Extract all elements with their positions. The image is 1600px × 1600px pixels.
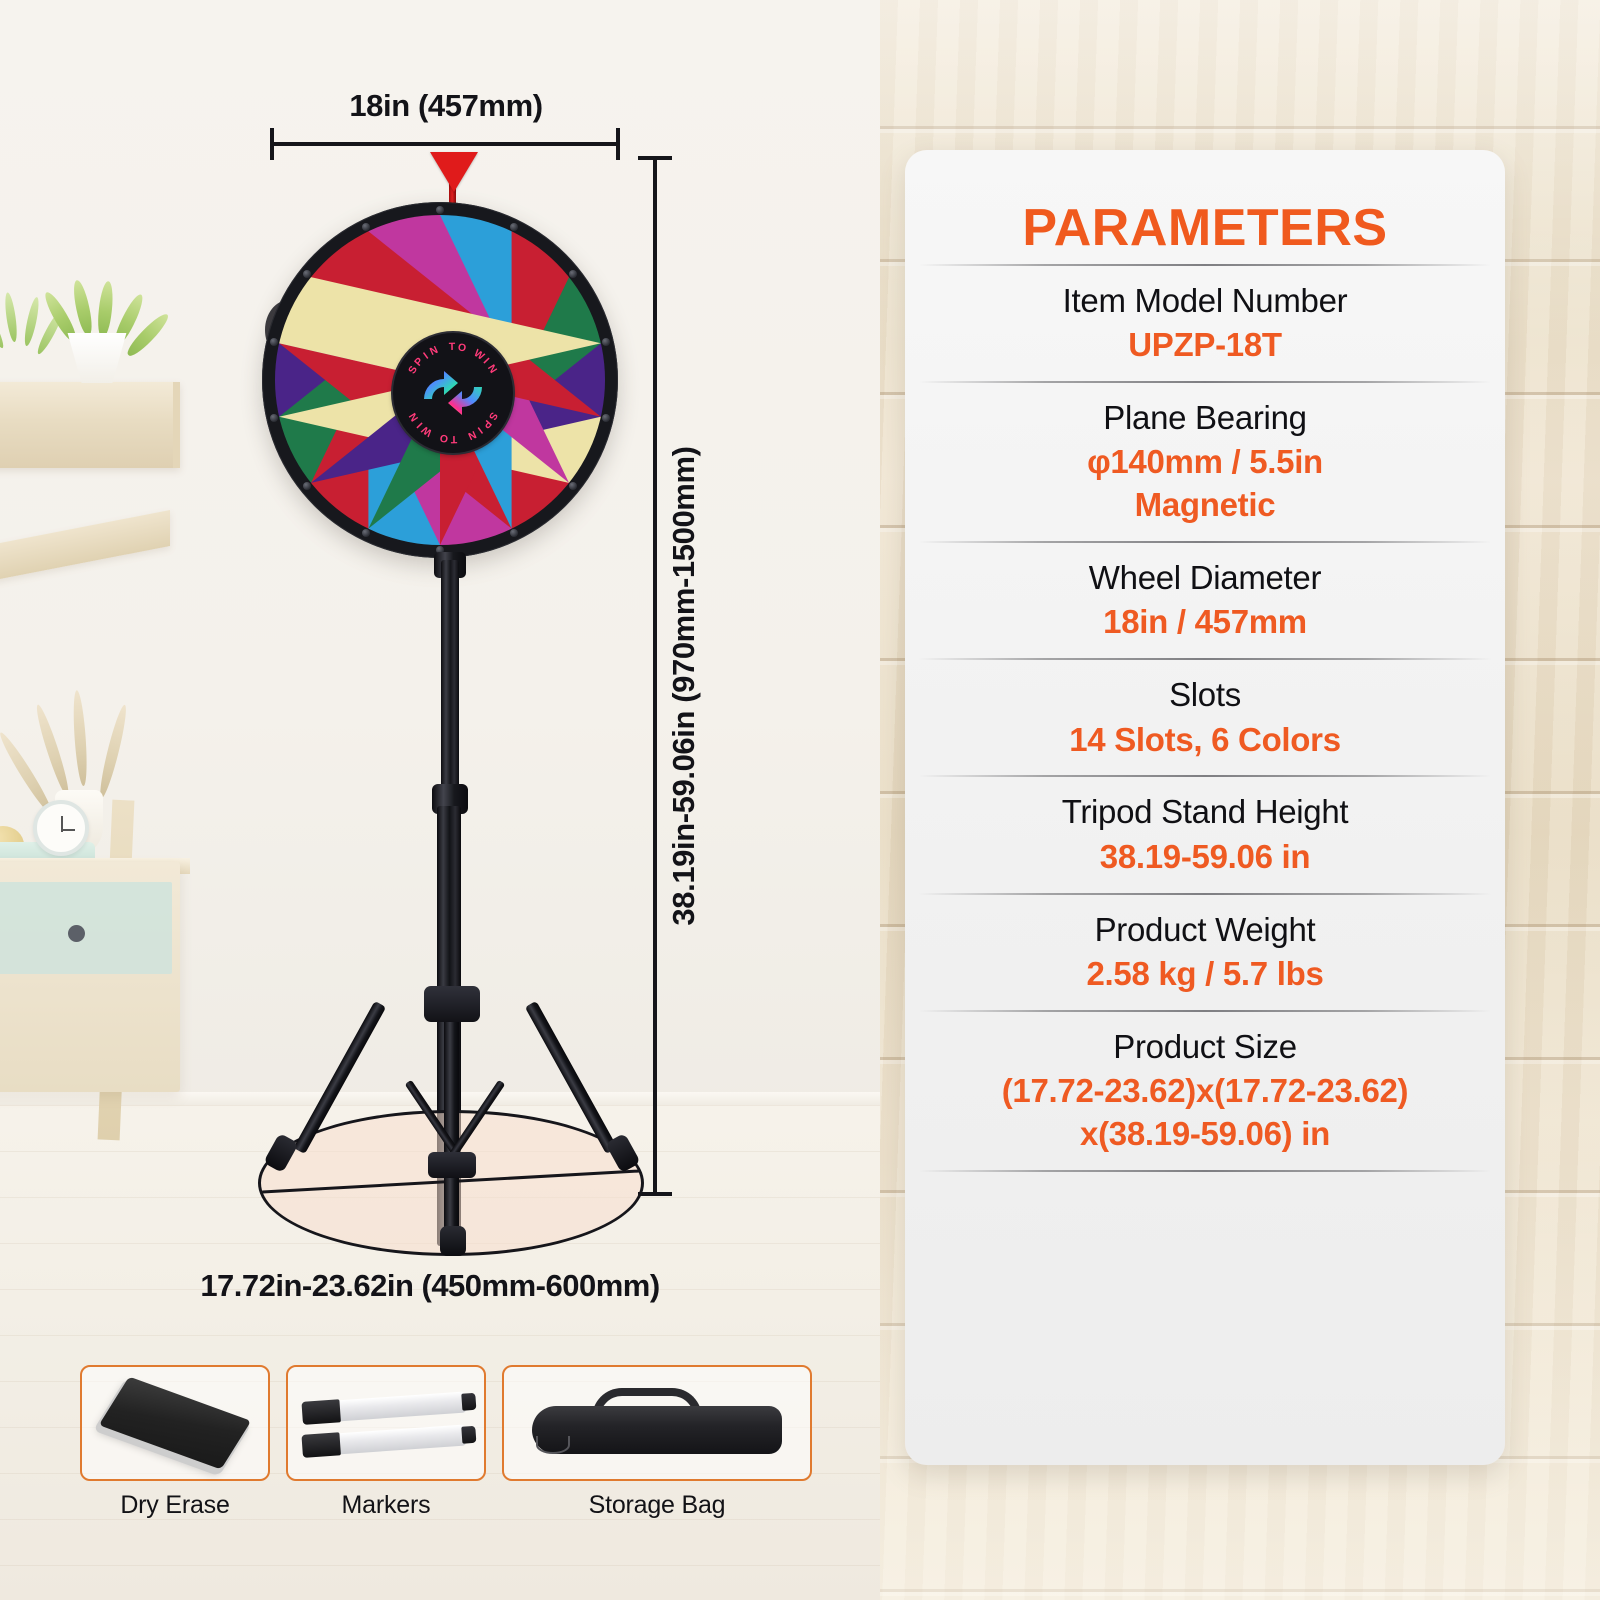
tripod-leg-center [444,1004,459,1254]
spec-row: Tripod Stand Height38.19-59.06 in [905,777,1505,892]
spec-row: Product Size(17.72-23.62)x(17.72-23.62)x… [905,1012,1505,1170]
dimension-line-width [272,142,620,146]
wheel-rim-screw [436,206,444,214]
spec-label: Slots [1169,674,1241,715]
accessory-card[interactable] [80,1365,270,1481]
wheel-face: SPIN TO WINSPIN TO WIN [275,215,605,545]
spec-label: Product Size [1113,1026,1297,1067]
nightstand-drawer [0,882,172,974]
spec-row: Slots14 Slots, 6 Colors [905,660,1505,775]
spec-row: Plane Bearingφ140mm / 5.5inMagnetic [905,383,1505,541]
marker-pens-icon [306,1396,466,1450]
spec-label: Wheel Diameter [1089,557,1321,598]
tripod-brace-hub [428,1152,476,1178]
accessory-dry-erase[interactable]: Dry Erase [80,1365,270,1520]
spec-label: Plane Bearing [1103,397,1306,438]
spec-value-line2: x(38.19-59.06) in [1002,1113,1409,1156]
panel-title: PARAMETERS [905,150,1505,264]
accessory-card[interactable] [502,1365,812,1481]
spec-value: 14 Slots, 6 Colors [1069,719,1341,762]
dimension-label-height: 38.19in-59.06in (970mm-1500mm) [666,406,702,966]
spec-value: (17.72-23.62)x(17.72-23.62)x(38.19-59.06… [1002,1070,1409,1156]
wall-shelf-upper [0,382,180,468]
wheel-rim-screw [569,270,577,278]
spec-value: UPZP-18T [1128,324,1281,367]
dimension-label-base: 17.72in-23.62in (450mm-600mm) [100,1268,760,1304]
accessory-storage-bag[interactable]: Storage Bag [502,1365,812,1520]
spec-label: Tripod Stand Height [1062,791,1349,832]
spec-row: Wheel Diameter18in / 457mm [905,543,1505,658]
spec-value: 2.58 kg / 5.7 lbs [1086,953,1323,996]
wheel-rim-screw [510,223,518,231]
potted-plant-leaves [58,283,138,341]
spec-value: φ140mm / 5.5inMagnetic [1087,441,1323,527]
spec-value: 18in / 457mm [1103,601,1307,644]
dimension-line-height [653,158,657,1196]
storage-bag-icon [532,1388,782,1458]
wheel-rim-screw [602,414,610,422]
plant-secondary [0,290,52,352]
tripod-yoke [424,986,480,1022]
accessory-label: Storage Bag [589,1491,726,1520]
wheel-rim-screw [510,529,518,537]
wheel-rim-screw [602,338,610,346]
wheel-hub: SPIN TO WINSPIN TO WIN [393,333,513,453]
accessory-label: Dry Erase [120,1491,229,1520]
tripod-foot-center [440,1226,466,1256]
accessory-markers[interactable]: Markers [286,1365,486,1520]
wheel-pointer-icon [430,152,478,192]
wheel-rim-screw [569,482,577,490]
spec-value: 38.19-59.06 in [1100,836,1310,879]
spec-label: Item Model Number [1063,280,1348,321]
dimension-label-width: 18in (457mm) [272,88,620,124]
accessory-label: Markers [342,1491,431,1520]
accessories-row: Dry Erase Markers Storage Bag [80,1365,812,1520]
spec-row: Item Model NumberUPZP-18T [905,266,1505,381]
prize-wheel: SPIN TO WINSPIN TO WIN [262,202,618,558]
spec-row: Product Weight2.58 kg / 5.7 lbs [905,895,1505,1010]
nightstand-knob [68,925,85,942]
accessory-card[interactable] [286,1365,486,1481]
recycle-arrows-icon [414,365,492,421]
spec-label: Product Weight [1095,909,1316,950]
telescoping-pole-upper [441,560,459,800]
eraser-icon [99,1376,251,1469]
specs-list: Item Model NumberUPZP-18TPlane Bearingφ1… [905,264,1505,1172]
spec-divider [919,1170,1491,1172]
parameters-panel: PARAMETERS Item Model NumberUPZP-18TPlan… [905,150,1505,1465]
spec-value-line2: Magnetic [1087,484,1323,527]
table-clock [33,800,89,856]
